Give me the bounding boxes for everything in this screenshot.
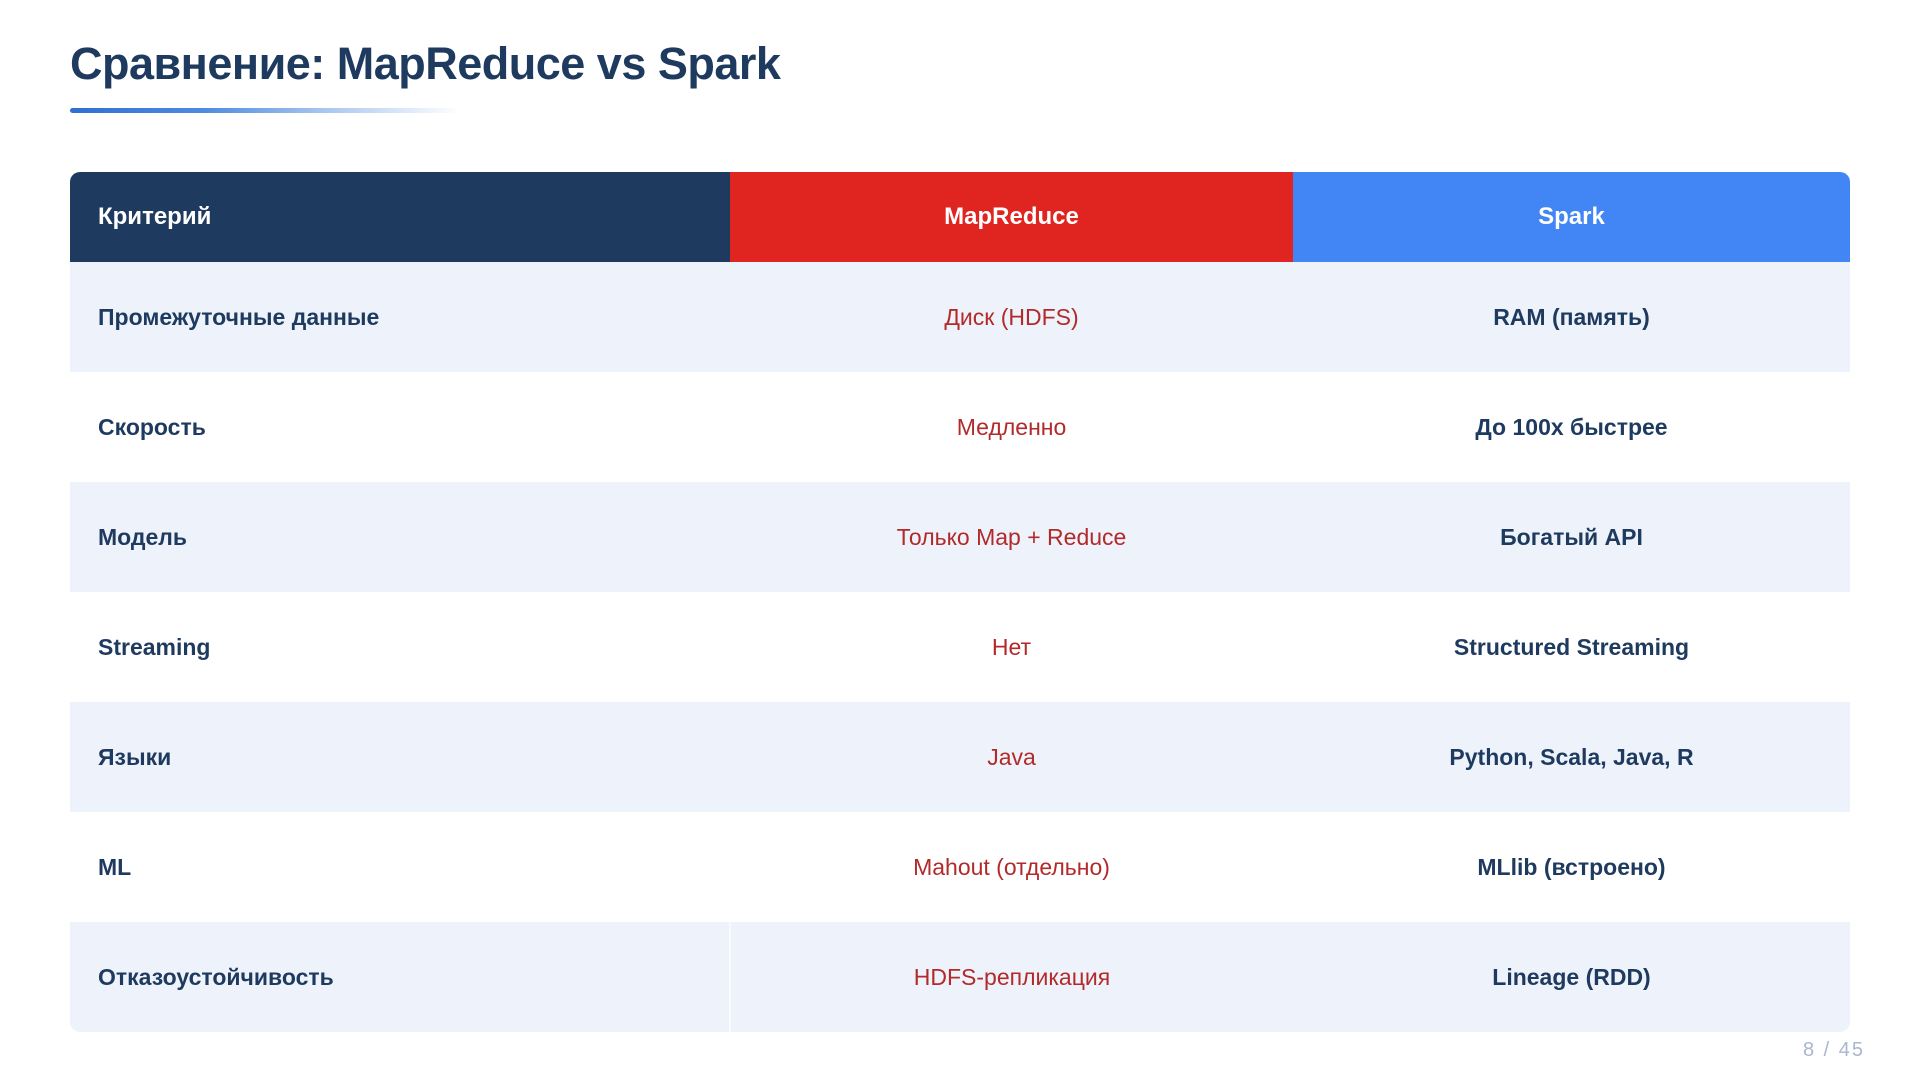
cell-criterion: Языки — [70, 702, 730, 812]
cell-mapreduce: Mahout (отдельно) — [730, 812, 1293, 922]
page-separator: / — [1824, 1039, 1832, 1061]
cell-criterion: Отказоустойчивость — [70, 922, 730, 1032]
table-row: Отказоустойчивость HDFS-репликация Linea… — [70, 922, 1850, 1032]
cell-mapreduce: Только Map + Reduce — [730, 482, 1293, 592]
page-title: Сравнение: MapReduce vs Spark — [70, 38, 1770, 90]
table-row: ML Mahout (отдельно) MLlib (встроено) — [70, 812, 1850, 922]
cell-mapreduce: Диск (HDFS) — [730, 262, 1293, 372]
cell-spark: Богатый API — [1293, 482, 1850, 592]
comparison-table: Критерий MapReduce Spark Промежуточные д… — [70, 172, 1850, 1032]
cell-criterion: Промежуточные данные — [70, 262, 730, 372]
cell-criterion: Streaming — [70, 592, 730, 702]
table-row: Streaming Нет Structured Streaming — [70, 592, 1850, 702]
cell-criterion: Модель — [70, 482, 730, 592]
table-row: Скорость Медленно До 100x быстрее — [70, 372, 1850, 482]
page-indicator: 8 / 45 — [1803, 1039, 1865, 1062]
cell-criterion: Скорость — [70, 372, 730, 482]
cell-spark: До 100x быстрее — [1293, 372, 1850, 482]
cell-spark: RAM (память) — [1293, 262, 1850, 372]
title-block: Сравнение: MapReduce vs Spark — [70, 38, 1770, 113]
cell-spark: Lineage (RDD) — [1293, 922, 1850, 1032]
cell-mapreduce: Медленно — [730, 372, 1293, 482]
cell-spark: Python, Scala, Java, R — [1293, 702, 1850, 812]
table-header: Критерий MapReduce Spark — [70, 172, 1850, 262]
title-underline-rule — [70, 108, 460, 113]
comparison-table-container: Критерий MapReduce Spark Промежуточные д… — [70, 172, 1850, 1032]
column-header-criterion: Критерий — [70, 172, 730, 262]
cell-mapreduce: Java — [730, 702, 1293, 812]
table-row: Модель Только Map + Reduce Богатый API — [70, 482, 1850, 592]
cell-spark: Structured Streaming — [1293, 592, 1850, 702]
cell-spark: MLlib (встроено) — [1293, 812, 1850, 922]
cell-criterion: ML — [70, 812, 730, 922]
table-row: Языки Java Python, Scala, Java, R — [70, 702, 1850, 812]
table-body: Промежуточные данные Диск (HDFS) RAM (па… — [70, 262, 1850, 1032]
page-total: 45 — [1839, 1039, 1865, 1061]
column-header-mapreduce: MapReduce — [730, 172, 1293, 262]
cell-mapreduce: Нет — [730, 592, 1293, 702]
cell-mapreduce: HDFS-репликация — [730, 922, 1293, 1032]
slide-root: Сравнение: MapReduce vs Spark Критерий M… — [0, 0, 1920, 1080]
page-current: 8 — [1803, 1039, 1816, 1061]
table-header-row: Критерий MapReduce Spark — [70, 172, 1850, 262]
table-row: Промежуточные данные Диск (HDFS) RAM (па… — [70, 262, 1850, 372]
column-header-spark: Spark — [1293, 172, 1850, 262]
